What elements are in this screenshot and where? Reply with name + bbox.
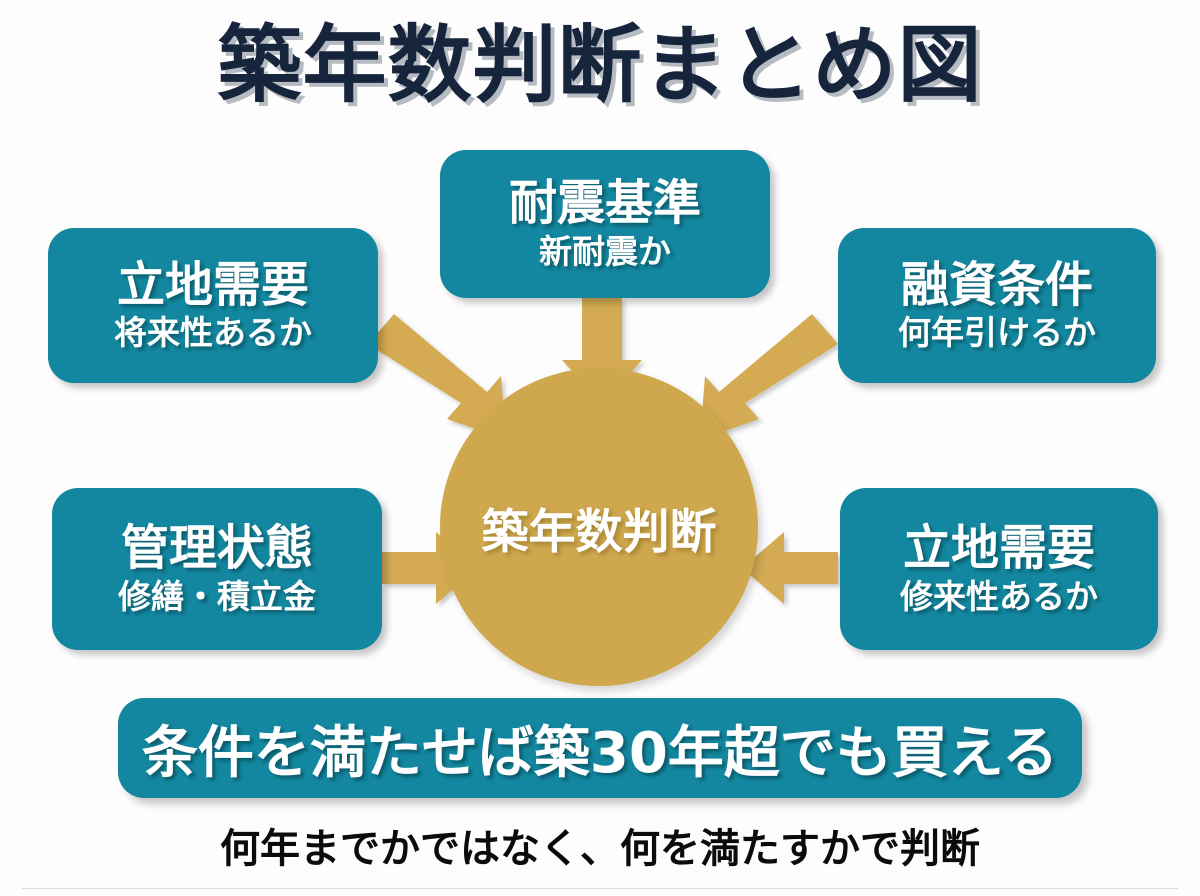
node-location-demand-bottom-subtitle: 修来性あるか [900, 578, 1098, 616]
node-management-state-subtitle: 修繕・積立金 [118, 578, 316, 616]
node-management-state-title: 管理状態 [121, 522, 313, 576]
node-seismic-standard: 耐震基準 新耐震か [440, 150, 770, 298]
arrow-topright-to-hub [700, 314, 838, 440]
node-seismic-standard-subtitle: 新耐震か [539, 233, 671, 271]
node-location-demand-top-subtitle: 将来性あるか [114, 314, 312, 352]
conclusion-banner-text: 条件を満たせば築30年超でも買える [142, 708, 1058, 789]
node-management-state: 管理状態 修繕・積立金 [52, 488, 382, 650]
center-hub-label: 築年数判断 [482, 493, 717, 562]
node-location-demand-bottom-title: 立地需要 [903, 522, 1095, 576]
bottom-divider [22, 888, 1178, 889]
footer-caption: 何年までかではなく、何を満たすかで判断 [0, 816, 1200, 874]
node-location-demand-top: 立地需要 将来性あるか [48, 228, 378, 383]
page-title: 築年数判断まとめ図 [0, 18, 1200, 112]
diagram-canvas: 築年数判断まとめ図 築年数判断 耐震基準 新耐震か 立地需要 [0, 0, 1200, 896]
node-location-demand-top-title: 立地需要 [117, 259, 309, 313]
node-seismic-standard-title: 耐震基準 [509, 177, 701, 231]
conclusion-banner: 条件を満たせば築30年超でも買える [118, 698, 1082, 798]
node-location-demand-bottom: 立地需要 修来性あるか [840, 488, 1158, 650]
center-hub: 築年数判断 [440, 368, 758, 686]
node-loan-conditions-title: 融資条件 [901, 259, 1093, 313]
node-loan-conditions: 融資条件 何年引けるか [838, 228, 1156, 383]
node-loan-conditions-subtitle: 何年引けるか [898, 314, 1096, 352]
